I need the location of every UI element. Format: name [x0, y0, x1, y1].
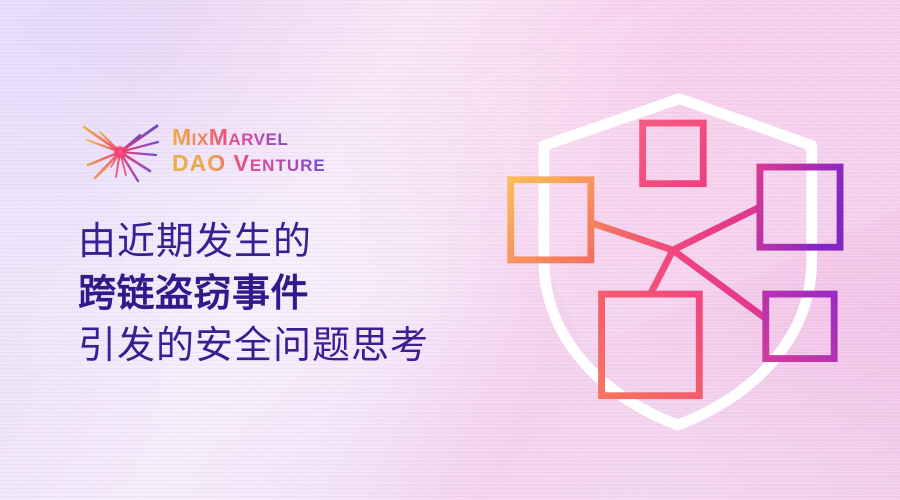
edge-hub-to-right-upper [673, 207, 760, 250]
headline-line-2: 跨链盗窃事件 [78, 268, 478, 320]
svg-text:MIXMARVEL: MIXMARVEL [172, 125, 288, 150]
node-square-top [643, 123, 704, 184]
node-square-bottom-left [602, 294, 700, 396]
banner-root: MIXMARVEL [0, 0, 900, 500]
network-edges [591, 184, 766, 319]
node-square-left [511, 180, 591, 260]
logo-text-daoventure-svg: DAO VENTURE [172, 151, 348, 177]
headline-line-1: 由近期发生的 [78, 216, 478, 268]
logo-text-mixmarvel-svg: MIXMARVEL [172, 125, 348, 151]
logo-line-daoventure: DAO VENTURE [172, 151, 348, 177]
svg-text:DAO VENTURE: DAO VENTURE [172, 151, 326, 176]
logo-line-mixmarvel: MIXMARVEL [172, 125, 348, 151]
edge-hub-to-bottom-left [650, 250, 672, 294]
left-content-column: MIXMARVEL [78, 112, 478, 372]
security-network-shield-graphic [455, 55, 885, 455]
brand-logo: MIXMARVEL [78, 112, 478, 190]
edge-hub-to-left [591, 223, 673, 250]
logo-wordmark: MIXMARVEL [172, 125, 348, 177]
shield-network-svg [455, 55, 885, 455]
headline-block: 由近期发生的 跨链盗窃事件 引发的安全问题思考 [78, 216, 478, 372]
headline-line-3: 引发的安全问题思考 [78, 320, 478, 372]
edge-hub-to-right-lower [673, 250, 766, 318]
starburst-icon [78, 115, 162, 187]
node-square-right-upper [760, 167, 840, 247]
